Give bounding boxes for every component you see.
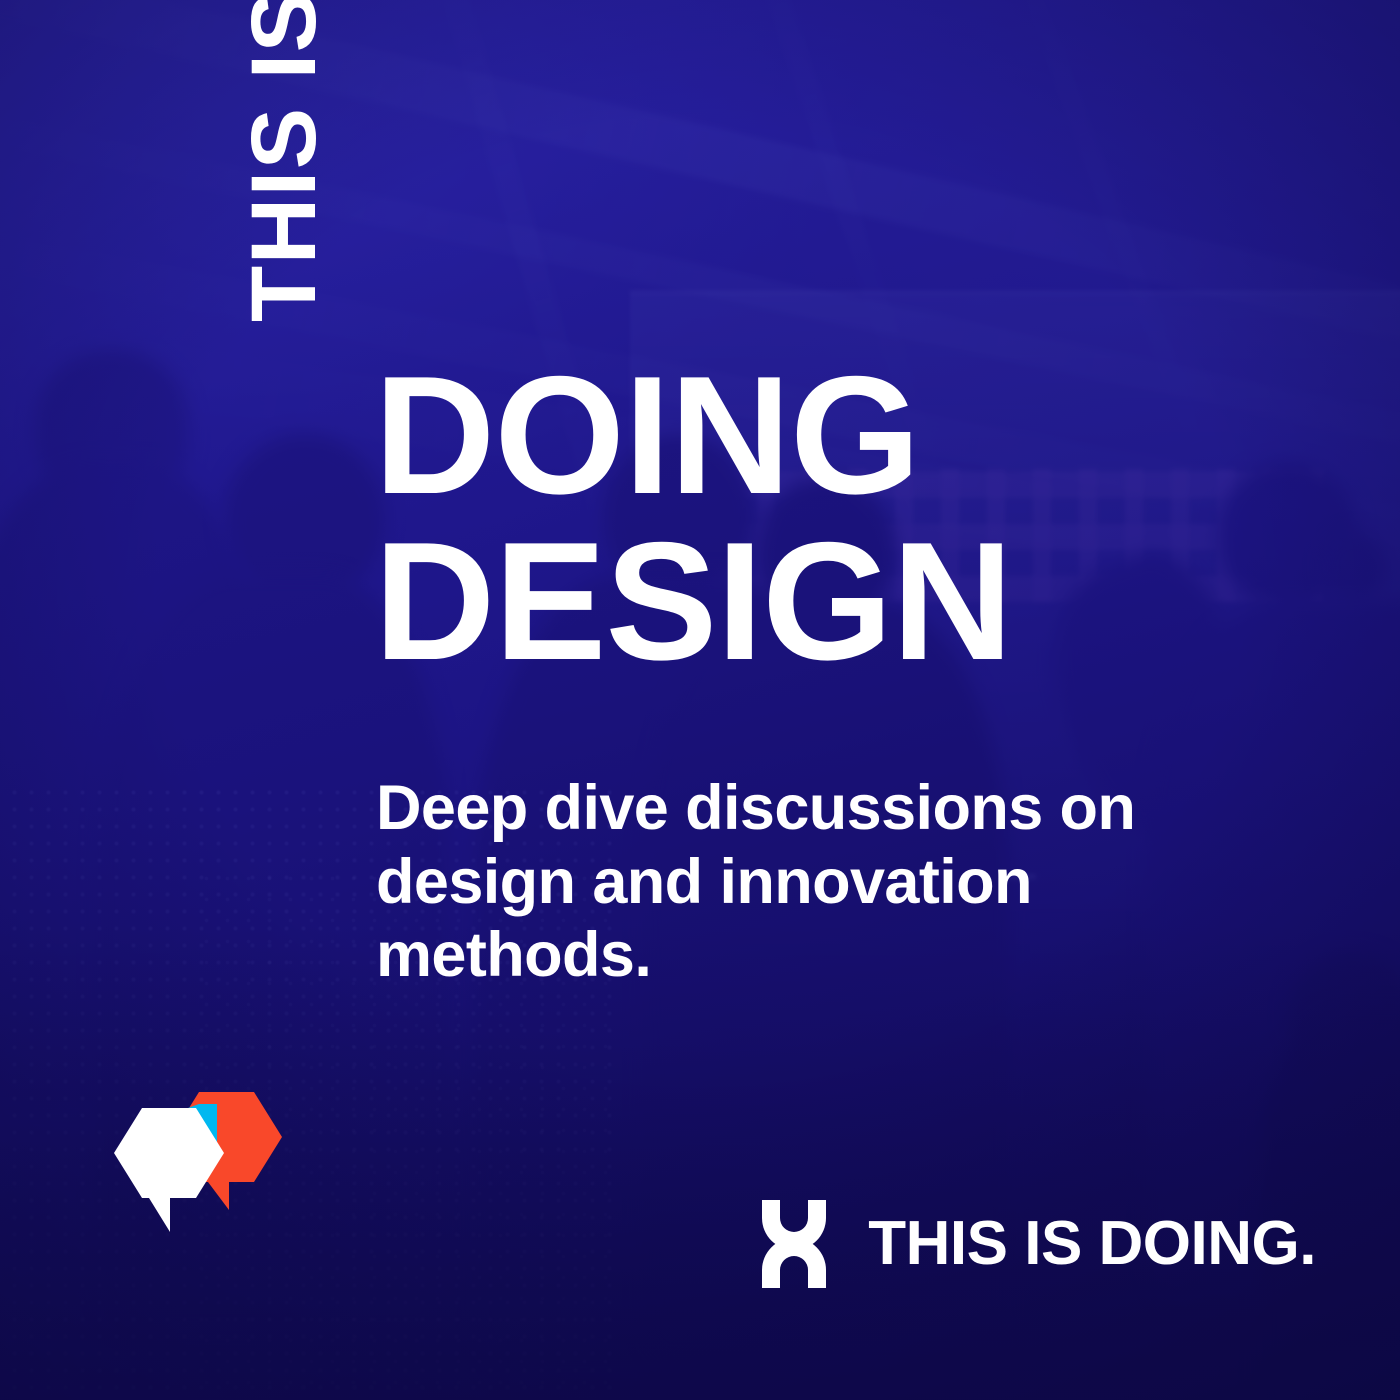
this-is-hcd-vertical-wordmark: THIS IS HCD xyxy=(152,322,244,994)
hex-bubble-white xyxy=(114,1108,224,1232)
title-line-1: DOING xyxy=(374,352,1274,518)
this-is-hcd-hex-speech-bubble-logo xyxy=(104,1082,296,1274)
this-is-doing-label: THIS IS DOING. xyxy=(868,1213,1316,1275)
title-line-2: DESIGN xyxy=(374,518,1274,684)
vertical-wordmark-this-is: THIS IS xyxy=(233,0,335,322)
cover-art-canvas: THIS IS HCD DOING DESIGN Deep dive discu… xyxy=(0,0,1400,1400)
vertical-wordmark-text: THIS IS HCD xyxy=(240,0,328,322)
show-title: DOING DESIGN xyxy=(374,352,1274,685)
this-is-doing-lockup: THIS IS DOING. xyxy=(756,1196,1316,1292)
hourglass-arcs-icon xyxy=(756,1198,832,1290)
show-subtitle: Deep dive discussions on design and inno… xyxy=(376,772,1266,993)
